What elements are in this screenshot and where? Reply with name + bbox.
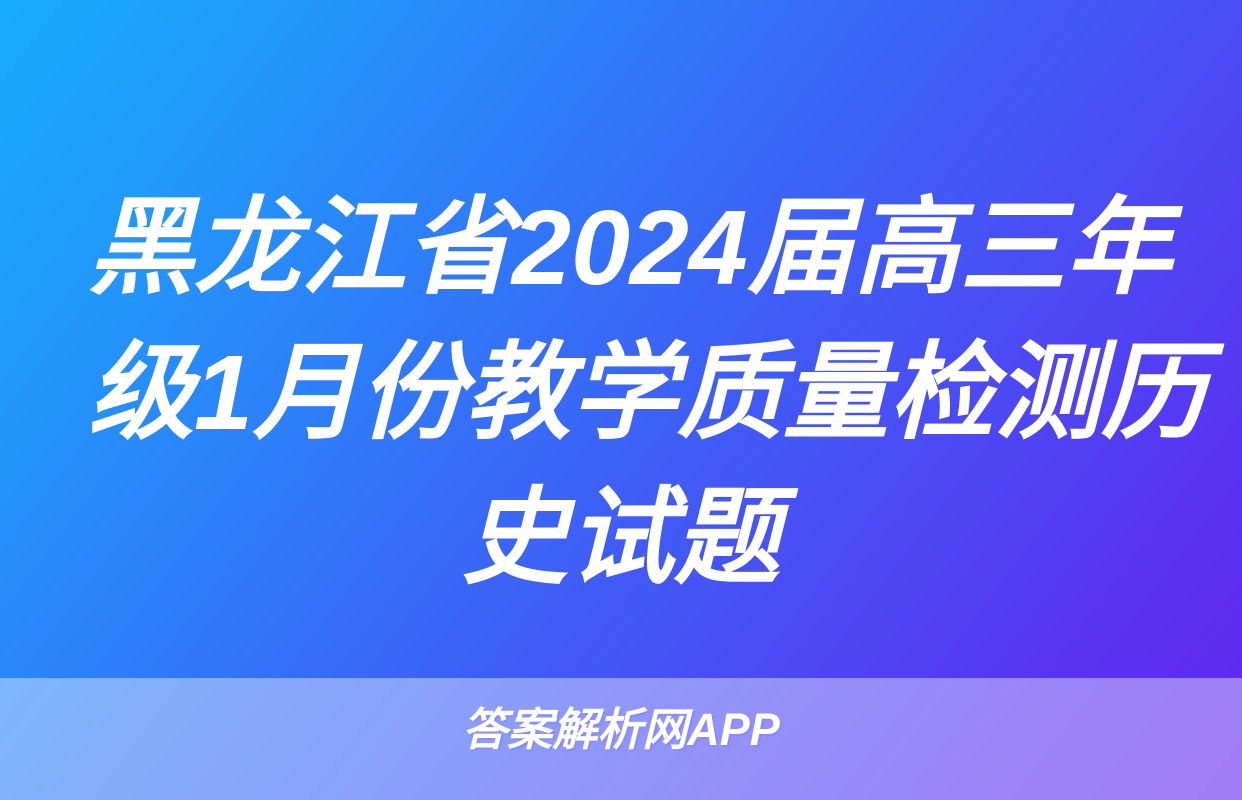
- title-line-2: 级1月份教学质量检测历: [88, 321, 1154, 466]
- title-line-3: 史试题: [88, 466, 1154, 611]
- watermark-label: 答案解析网APP: [462, 707, 780, 752]
- watermark-banner: 答案解析网APP: [0, 700, 1242, 758]
- title-line-1: 黑龙江省2024届高三年: [88, 176, 1154, 321]
- poster-title: 黑龙江省2024届高三年 级1月份教学质量检测历 史试题: [88, 176, 1154, 646]
- poster-canvas: 黑龙江省2024届高三年 级1月份教学质量检测历 史试题 答案解析网APP: [0, 0, 1242, 800]
